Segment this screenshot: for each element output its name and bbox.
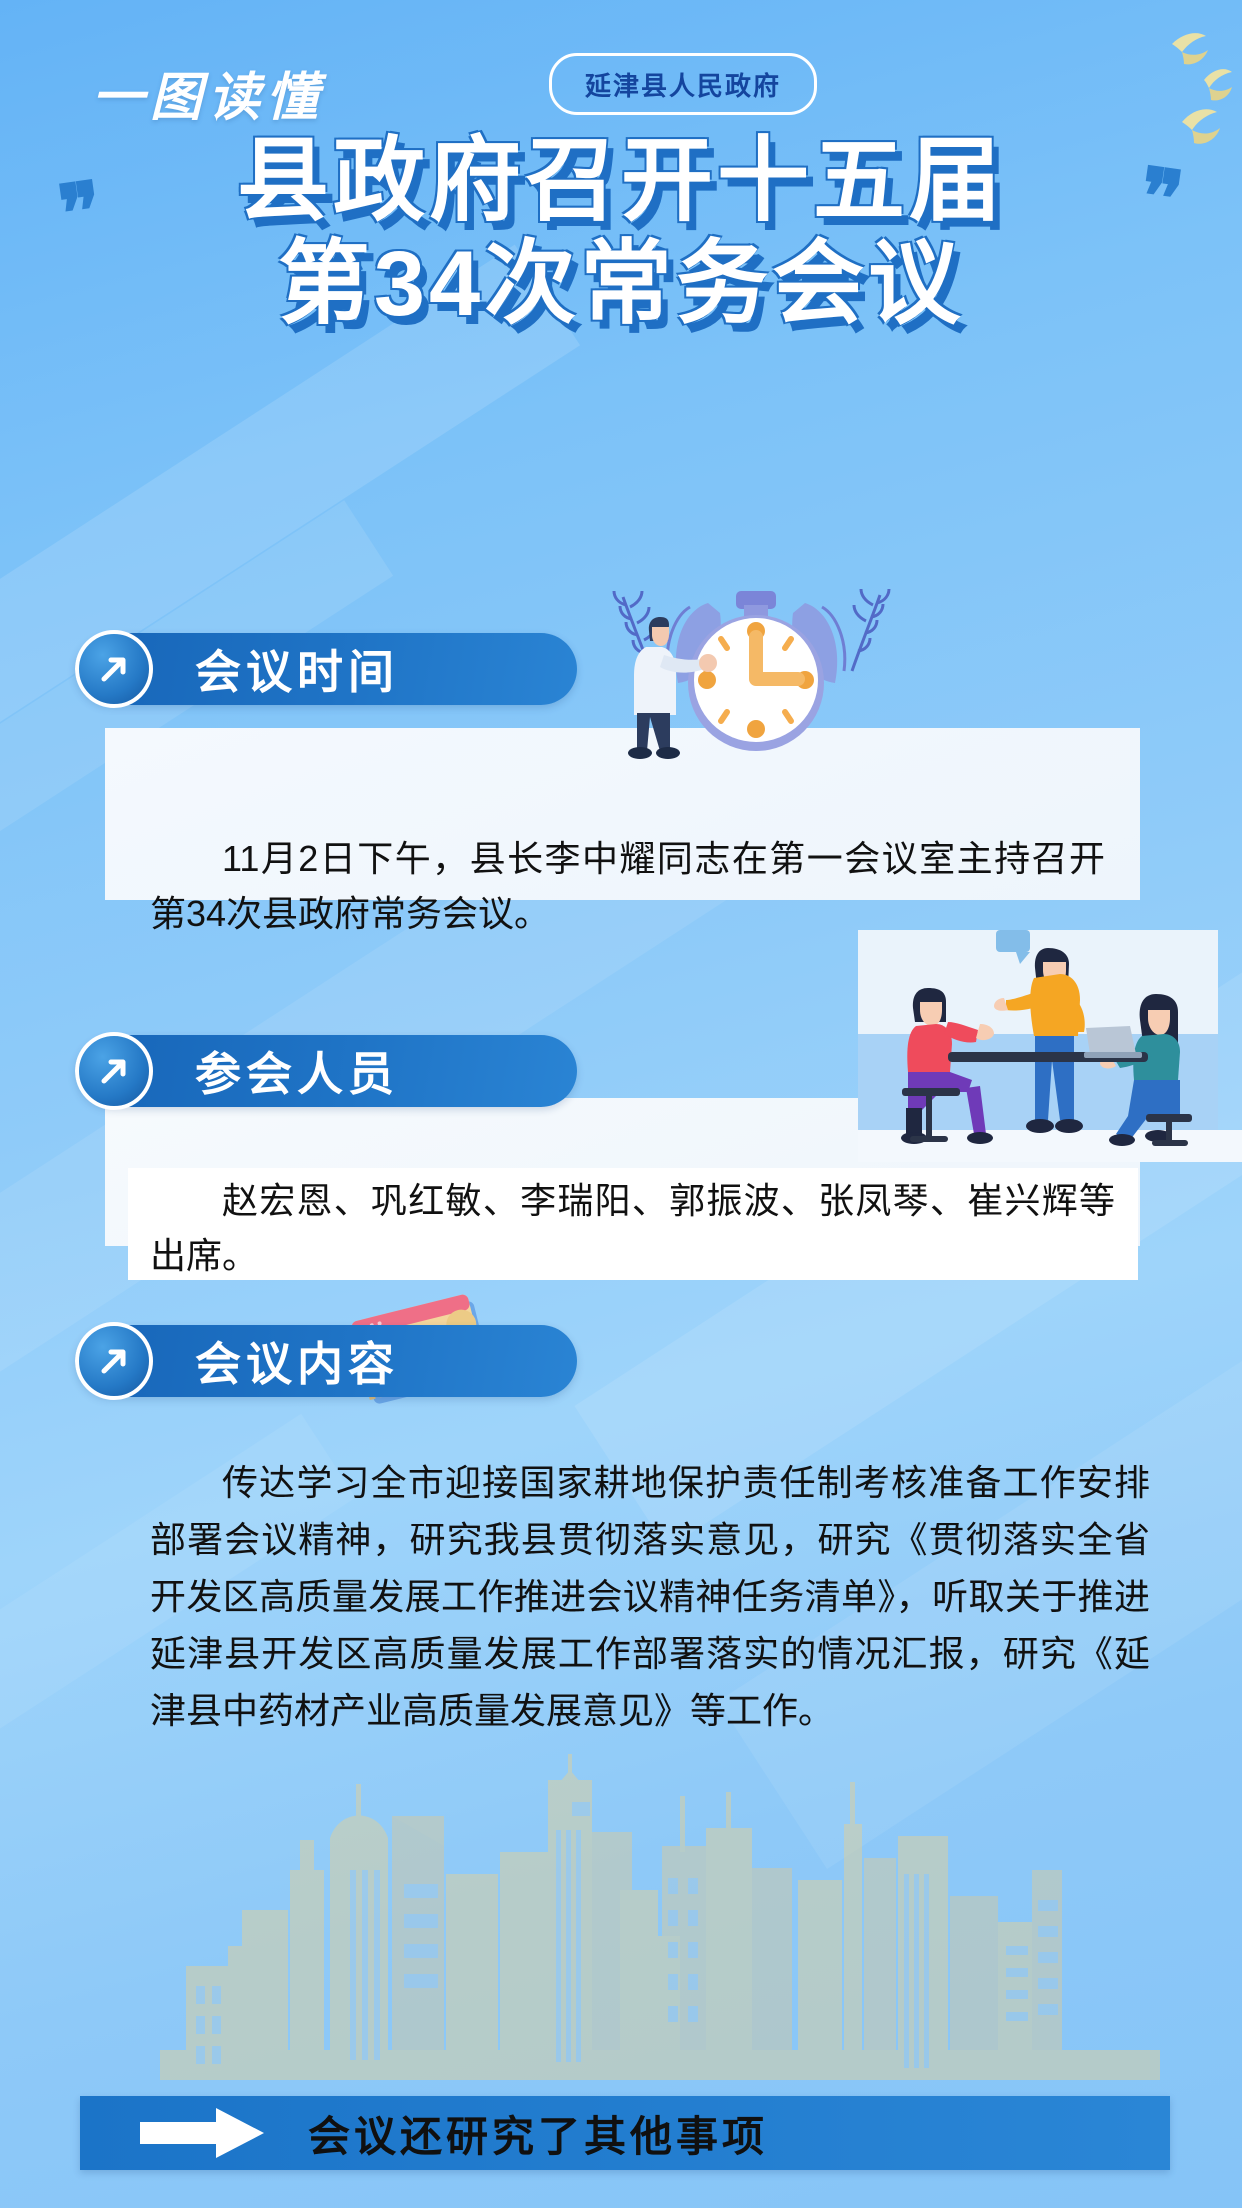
section-header-attendees: 参会人员 (75, 1030, 577, 1112)
right-arrow-icon (138, 2106, 266, 2160)
meeting-people-illustration (858, 930, 1242, 1162)
title-line-2: 第34次常务会议 (0, 233, 1242, 336)
section-title-attendees: 参会人员 (195, 1038, 399, 1104)
meeting-content-body: 传达学习全市迎接国家耕地保护责任制考核准备工作安排部署会议精神，研究我县贯彻落实… (150, 1455, 1150, 1739)
section-title-meeting-time: 会议时间 (195, 636, 399, 702)
poster-title: ❞ ❞ 县政府召开十五届 第34次常务会议 (0, 130, 1242, 336)
attendees-body: 赵宏恩、巩红敏、李瑞阳、郭振波、张凤琴、崔兴辉等出席。 (150, 1174, 1115, 1283)
infographic-poster: 一图读懂 延津县人民政府 ❞ ❞ 县政府召开十五届 第34次常务会议 (0, 0, 1242, 2208)
footer-banner[interactable]: 会议还研究了其他事项 (80, 2096, 1170, 2170)
footer-label: 会议还研究了其他事项 (308, 2103, 768, 2164)
tagline: 一图读懂 (92, 55, 324, 130)
government-badge-label: 延津县人民政府 (585, 66, 781, 103)
section-title-meeting-content: 会议内容 (195, 1328, 399, 1394)
section-header-meeting-content: 会议内容 (75, 1320, 577, 1402)
arrow-up-right-icon (75, 630, 153, 708)
city-skyline-decoration (0, 1750, 1242, 2080)
section-header-meeting-time: 会议时间 (75, 628, 577, 710)
title-line-1: 县政府召开十五届 (0, 130, 1242, 233)
meeting-time-body: 11月2日下午，县长李中耀同志在第一会议室主持召开第34次县政府常务会议。 (150, 832, 1105, 941)
stopwatch-illustration (590, 555, 920, 760)
arrow-up-right-icon (75, 1322, 153, 1400)
government-badge: 延津县人民政府 (549, 53, 817, 115)
arrow-up-right-icon (75, 1032, 153, 1110)
